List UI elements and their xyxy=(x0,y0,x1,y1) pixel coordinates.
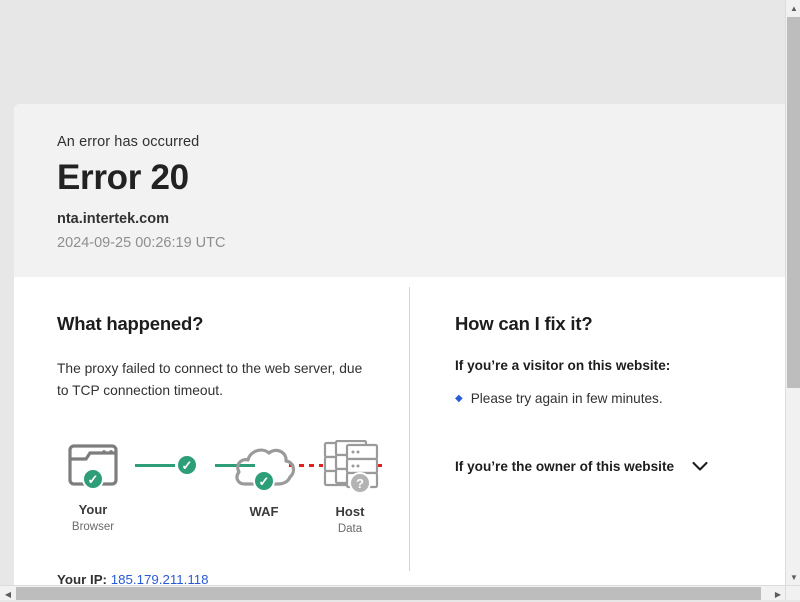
vertical-scrollbar[interactable]: ▲ ▼ xyxy=(785,0,800,585)
how-to-fix-title: How can I fix it? xyxy=(455,313,785,335)
link-browser-waf-left xyxy=(135,464,175,467)
scrollbar-corner xyxy=(785,585,800,600)
vertical-scrollbar-thumb[interactable] xyxy=(787,17,800,388)
horizontal-scrollbar-thumb[interactable] xyxy=(16,587,761,600)
error-kicker: An error has occurred xyxy=(57,134,785,150)
error-hostname: nta.intertek.com xyxy=(57,211,785,227)
check-icon: ✓ xyxy=(88,473,99,486)
diagram-node-browser: ✓ xyxy=(67,442,119,493)
diagram-node-host: ? xyxy=(323,440,381,497)
diamond-bullet-icon: ◆ xyxy=(455,389,463,408)
your-ip-row: Your IP: 185.179.211.118 xyxy=(57,572,410,585)
what-happened-body: The proxy failed to connect to the web s… xyxy=(57,358,363,403)
scroll-down-arrow-icon[interactable]: ▼ xyxy=(787,570,800,585)
what-happened-title: What happened? xyxy=(57,313,410,335)
diagram-label-host-main: Host xyxy=(295,504,405,519)
how-to-fix-column: How can I fix it? If you’re a visitor on… xyxy=(410,313,785,585)
diagram-label-browser-main: Your xyxy=(38,502,148,517)
list-item: ◆ Please try again in few minutes. xyxy=(455,389,785,409)
browser-viewport: An error has occurred Error 20 nta.inter… xyxy=(0,0,785,585)
error-code-title: Error 20 xyxy=(57,160,785,197)
connection-diagram: ✓ ! xyxy=(57,430,387,540)
your-ip-label: Your IP: xyxy=(57,572,107,585)
chevron-down-icon xyxy=(692,461,708,472)
diagram-label-browser-sub: Browser xyxy=(38,521,148,533)
check-icon: ✓ xyxy=(182,459,193,472)
diagram-label-host-sub: Data xyxy=(295,523,405,535)
error-card-header: An error has occurred Error 20 nta.inter… xyxy=(14,104,785,277)
question-mark-icon: ? xyxy=(356,477,364,490)
your-ip-value-link[interactable]: 185.179.211.118 xyxy=(111,572,209,585)
link-status-browser-waf: ✓ xyxy=(176,454,198,476)
owner-section-toggle[interactable]: If you’re the owner of this website xyxy=(455,459,785,474)
error-timestamp: 2024-09-25 00:26:19 UTC xyxy=(57,235,785,251)
error-card: An error has occurred Error 20 nta.inter… xyxy=(14,104,785,585)
diagram-label-host: Host Data xyxy=(295,504,405,535)
column-divider xyxy=(409,287,410,571)
scroll-up-arrow-icon[interactable]: ▲ xyxy=(787,1,800,16)
visitor-steps-list: ◆ Please try again in few minutes. xyxy=(455,389,785,409)
ip-info-block: Your IP: 185.179.211.118 Proxy IP: 45.22… xyxy=(57,572,410,585)
check-icon: ✓ xyxy=(259,475,270,488)
error-card-body: What happened? The proxy failed to conne… xyxy=(14,277,785,585)
owner-section-toggle-label: If you’re the owner of this website xyxy=(455,459,674,474)
diagram-node-waf: ✓ xyxy=(233,444,297,493)
horizontal-scrollbar[interactable]: ◀ ▶ xyxy=(0,585,785,600)
diagram-label-browser: Your Browser xyxy=(38,502,148,533)
what-happened-column: What happened? The proxy failed to conne… xyxy=(14,313,410,585)
visitor-subhead: If you’re a visitor on this website: xyxy=(455,358,785,373)
visitor-step-text: Please try again in few minutes. xyxy=(471,389,663,409)
